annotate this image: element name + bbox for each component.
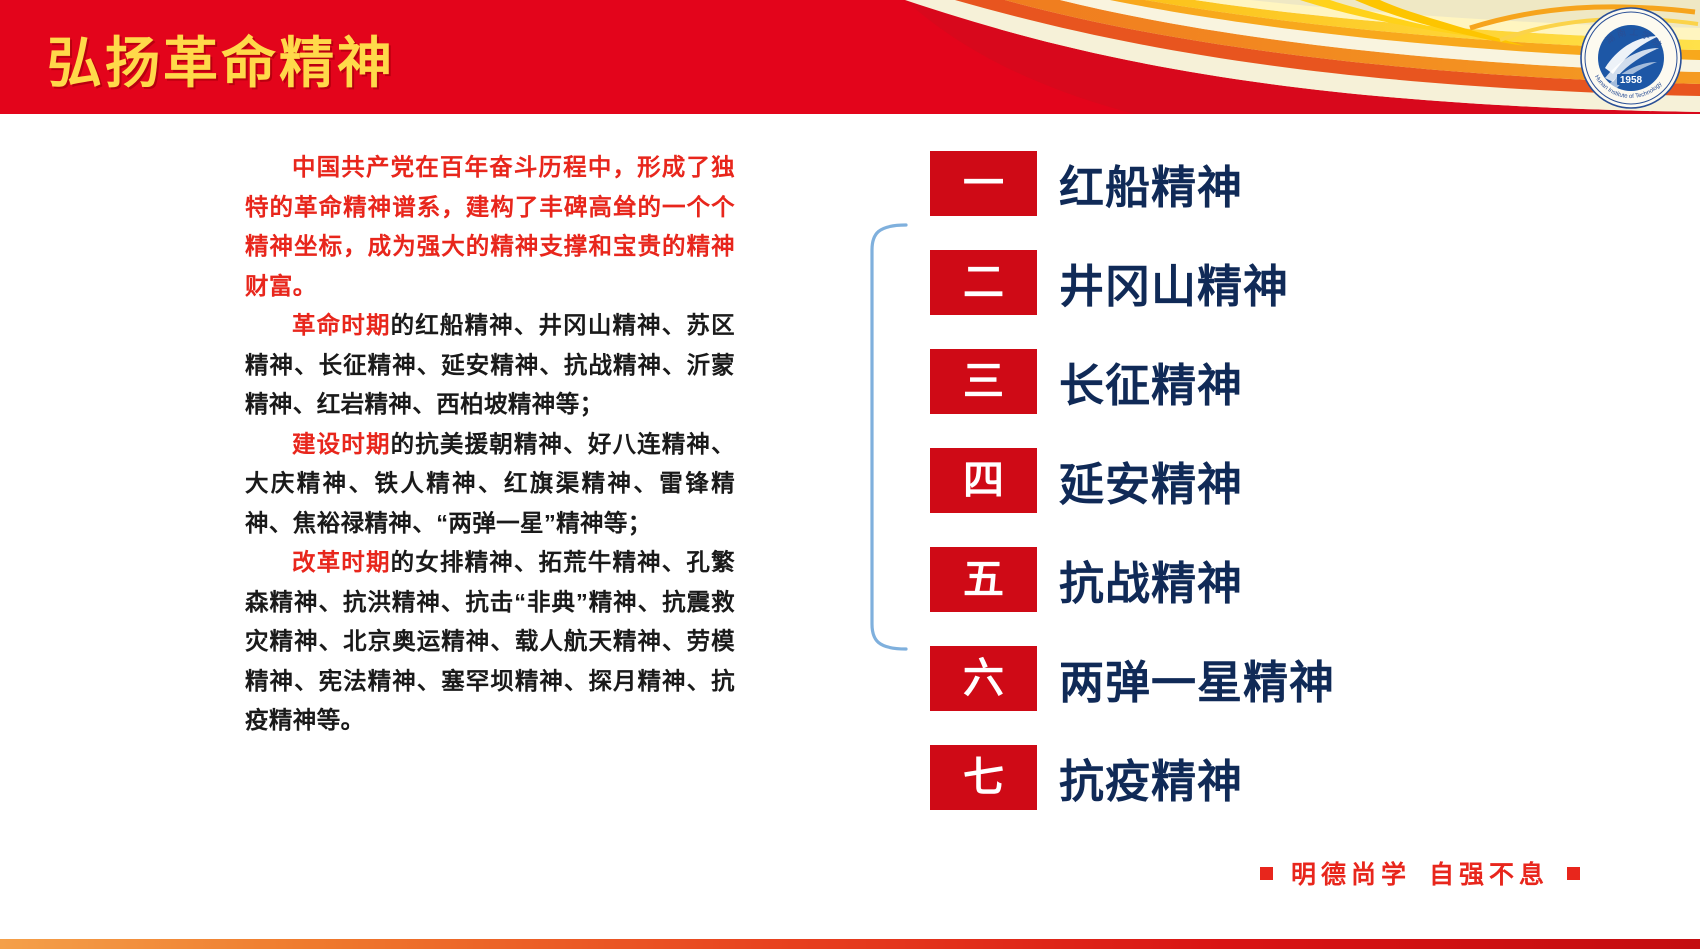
square-bullet-icon (1567, 867, 1580, 880)
logo-year-text: 1958 (1620, 75, 1643, 86)
list-item[interactable]: 三 长征精神 (930, 332, 1670, 431)
paragraph-revolution-era: 革命时期的红船精神、井冈山精神、苏区精神、长征精神、延安精神、抗战精神、沂蒙精神… (245, 306, 735, 425)
list-item-number-badge: 七 (930, 745, 1037, 810)
list-item[interactable]: 七 抗疫精神 (930, 728, 1670, 827)
list-item[interactable]: 一 红船精神 (930, 134, 1670, 233)
footer-gradient-bar (0, 939, 1700, 949)
list-item-number-badge: 三 (930, 349, 1037, 414)
list-item-number-badge: 一 (930, 151, 1037, 216)
paragraph-reform-era: 改革时期的女排精神、拓荒牛精神、孔繁森精神、抗洪精神、抗击“非典”精神、抗震救灾… (245, 543, 735, 741)
footer-motto: 明德尚学 自强不息 (1260, 855, 1580, 891)
list-item-label: 抗战精神 (1059, 547, 1243, 612)
paragraph-construction-era-lead: 建设时期 (292, 431, 391, 457)
list-item-label: 井冈山精神 (1059, 250, 1289, 315)
list-item-number-badge: 六 (930, 646, 1037, 711)
footer-motto-right: 自强不息 (1429, 855, 1549, 891)
list-item-number-badge: 四 (930, 448, 1037, 513)
paragraph-reform-era-text: 的女排精神、拓荒牛精神、孔繁森精神、抗洪精神、抗击“非典”精神、抗震救灾精神、北… (245, 549, 735, 733)
list-item[interactable]: 二 井冈山精神 (930, 233, 1670, 332)
header-divider (0, 114, 1700, 118)
paragraph-reform-era-lead: 改革时期 (292, 549, 391, 575)
list-item-number-badge: 五 (930, 547, 1037, 612)
paragraph-revolution-era-lead: 革命时期 (292, 312, 391, 338)
list-item-label: 红船精神 (1059, 151, 1243, 216)
paragraph-construction-era: 建设时期的抗美援朝精神、好八连精神、大庆精神、铁人精神、红旗渠精神、雷锋精神、焦… (245, 425, 735, 544)
square-bullet-icon (1260, 867, 1273, 880)
list-item-label: 延安精神 (1059, 448, 1243, 513)
list-item-label: 抗疫精神 (1059, 745, 1243, 810)
list-item[interactable]: 五 抗战精神 (930, 530, 1670, 629)
university-seal-logo: 1958 湖 南 工 学 院 Hunan Institute of Techno… (1579, 6, 1683, 110)
list-item[interactable]: 四 延安精神 (930, 431, 1670, 530)
page-title: 弘扬革命精神 (47, 18, 395, 98)
footer-motto-left: 明德尚学 (1291, 855, 1411, 891)
paragraph-intro-text: 中国共产党在百年奋斗历程中，形成了独特的革命精神谱系，建构了丰碑高耸的一个个精神… (245, 154, 735, 299)
grouping-bracket (862, 222, 908, 652)
spirit-list: 一 红船精神 二 井冈山精神 三 长征精神 四 延安精神 五 抗战精神 六 两弹… (930, 134, 1670, 827)
list-item-number-badge: 二 (930, 250, 1037, 315)
paragraph-intro: 中国共产党在百年奋斗历程中，形成了独特的革命精神谱系，建构了丰碑高耸的一个个精神… (245, 148, 735, 306)
slide-header: 弘扬革命精神 1958 湖 南 工 学 院 Hunan Institute of… (0, 0, 1700, 114)
list-item-label: 两弹一星精神 (1059, 646, 1335, 711)
list-item[interactable]: 六 两弹一星精神 (930, 629, 1670, 728)
slide-root: 弘扬革命精神 1958 湖 南 工 学 院 Hunan Institute of… (0, 0, 1700, 949)
list-item-label: 长征精神 (1059, 349, 1243, 414)
body-text-column: 中国共产党在百年奋斗历程中，形成了独特的革命精神谱系，建构了丰碑高耸的一个个精神… (245, 148, 735, 741)
